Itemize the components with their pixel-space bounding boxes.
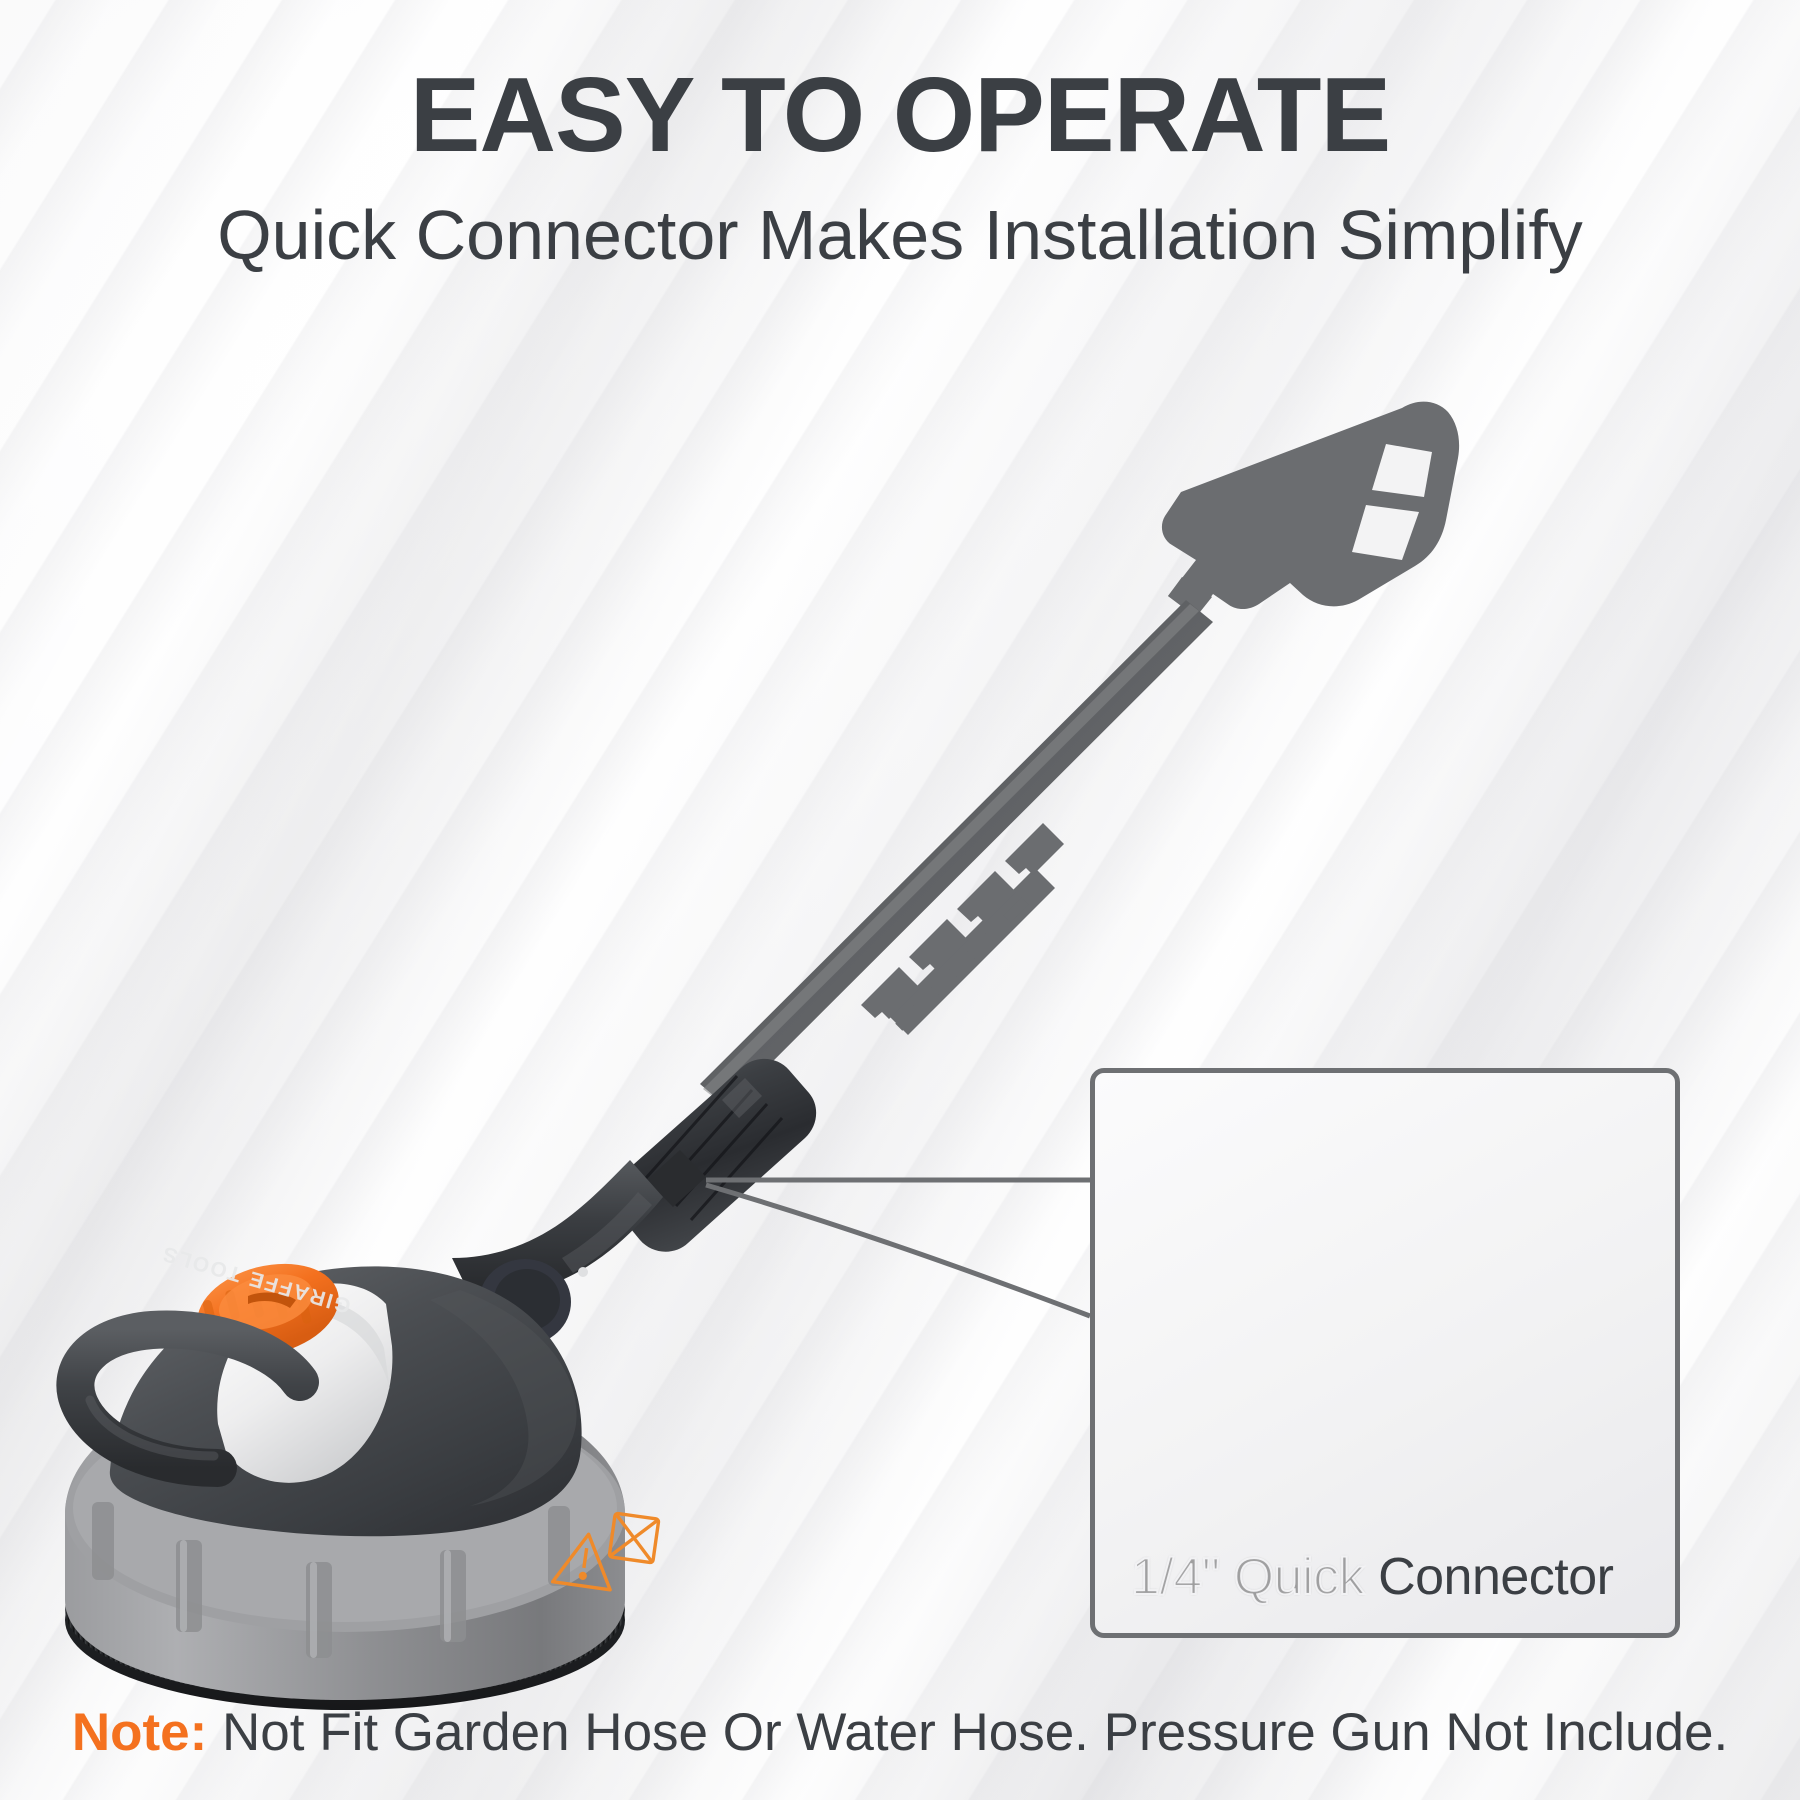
note-text: Not Fit Garden Hose Or Water Hose. Press…	[207, 1703, 1728, 1762]
spray-gun-silhouette	[1162, 402, 1459, 617]
footer-note: Note: Not Fit Garden Hose Or Water Hose.…	[0, 1704, 1800, 1762]
quick-connector-callout-box: 1/4" Quick Connector	[1090, 1068, 1680, 1638]
inset-caption: 1/4" Quick Connector	[1131, 1547, 1614, 1607]
inset-caption-outlined: 1/4" Quick	[1131, 1548, 1364, 1606]
note-label: Note:	[72, 1703, 207, 1762]
inset-caption-solid: Connector	[1364, 1548, 1613, 1606]
extension-lance	[700, 600, 1213, 1107]
callout-leader-lines	[706, 1180, 1090, 1316]
